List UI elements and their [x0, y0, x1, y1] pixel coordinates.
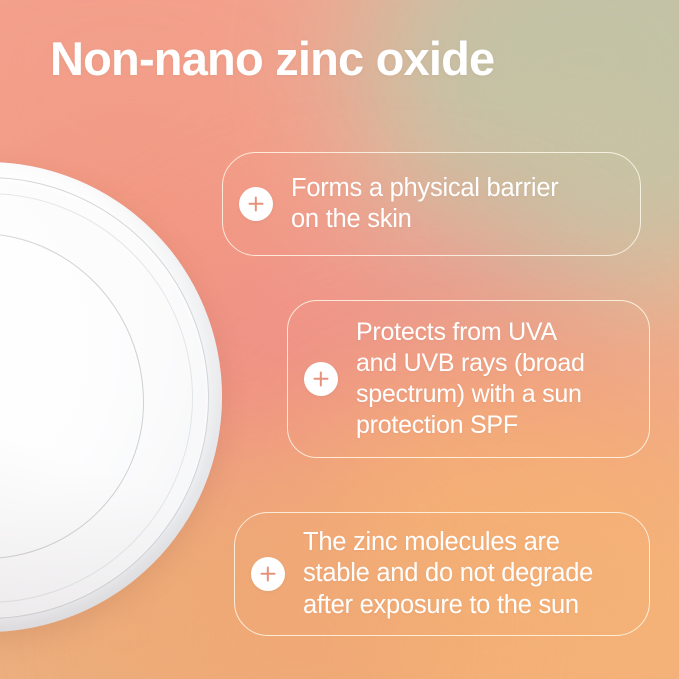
page-title: Non-nano zinc oxide [50, 33, 650, 86]
infographic-canvas: Non-nano zinc oxide Forms a physical bar… [0, 0, 679, 679]
feature-card-broad-spectrum: Protects from UVA and UVB rays (broad sp… [287, 300, 650, 458]
feature-card-line: Protects from UVA [356, 317, 585, 348]
plus-icon [239, 187, 273, 221]
feature-card-line: on the skin [291, 204, 559, 235]
feature-card-line: and UVB rays (broad [356, 348, 585, 379]
feature-card-stable-molecules: The zinc molecules are stable and do not… [234, 512, 650, 636]
feature-card-line: Forms a physical barrier [291, 173, 559, 204]
feature-card-line: The zinc molecules are [303, 527, 593, 558]
feature-card-physical-barrier: Forms a physical barrier on the skin [222, 152, 641, 256]
feature-card-line: after exposure to the sun [303, 590, 593, 621]
feature-card-line: protection SPF [356, 410, 585, 441]
feature-card-line: stable and do not degrade [303, 558, 593, 589]
plus-icon [251, 557, 285, 591]
feature-card-text: The zinc molecules are stable and do not… [303, 527, 593, 620]
feature-card-line: spectrum) with a sun [356, 379, 585, 410]
feature-card-text: Forms a physical barrier on the skin [291, 173, 559, 235]
feature-card-text: Protects from UVA and UVB rays (broad sp… [356, 317, 585, 441]
plus-icon [304, 362, 338, 396]
